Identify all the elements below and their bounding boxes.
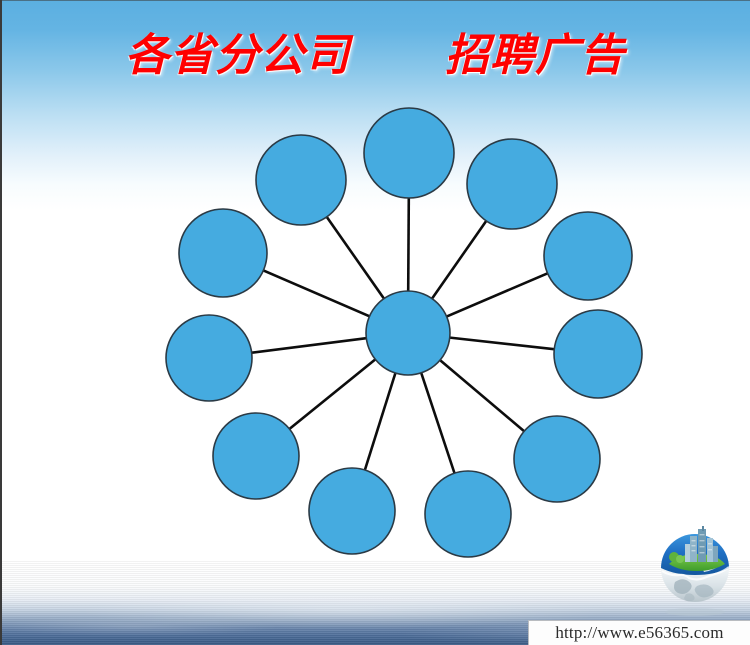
building-tower-5 [713,546,718,562]
spoke-line-8 [289,359,377,430]
spoke-line-2 [432,220,487,299]
outer-node-11[interactable] [256,135,346,225]
outer-node-1[interactable] [364,108,454,198]
tree-icon-2 [676,555,684,563]
building-tower-2 [698,529,706,562]
hub-node[interactable] [366,291,450,375]
spoke-line-6 [421,372,455,474]
hub-node-group [366,291,450,375]
watermark-url: http://www.e56365.com [555,623,723,643]
spoke-line-7 [365,372,396,471]
spoke-line-9 [251,338,368,353]
globe-city-logo [645,524,745,620]
spoke-line-1 [408,197,409,292]
outer-node-2[interactable] [467,139,557,229]
hub-and-spoke-diagram [0,0,750,645]
spoke-line-3 [446,273,549,317]
building-tower-4 [685,544,690,562]
outer-node-10[interactable] [179,209,267,297]
outer-node-7[interactable] [309,468,395,554]
outer-node-9[interactable] [166,315,252,401]
outer-node-5[interactable] [514,416,600,502]
spoke-line-4 [449,338,556,350]
building-antenna [702,526,704,531]
logo-shadow [665,608,725,616]
spoke-line-10 [263,270,371,317]
watermark-bar: http://www.e56365.com [528,620,750,645]
spoke-line-5 [439,360,525,432]
outer-node-4[interactable] [554,310,642,398]
outer-node-6[interactable] [425,471,511,557]
outer-node-3[interactable] [544,212,632,300]
outer-node-8[interactable] [213,413,299,499]
slide-canvas: 各省分公司 招聘广告 [0,0,750,645]
building-tower-1 [690,536,697,562]
spoke-line-11 [326,216,384,299]
